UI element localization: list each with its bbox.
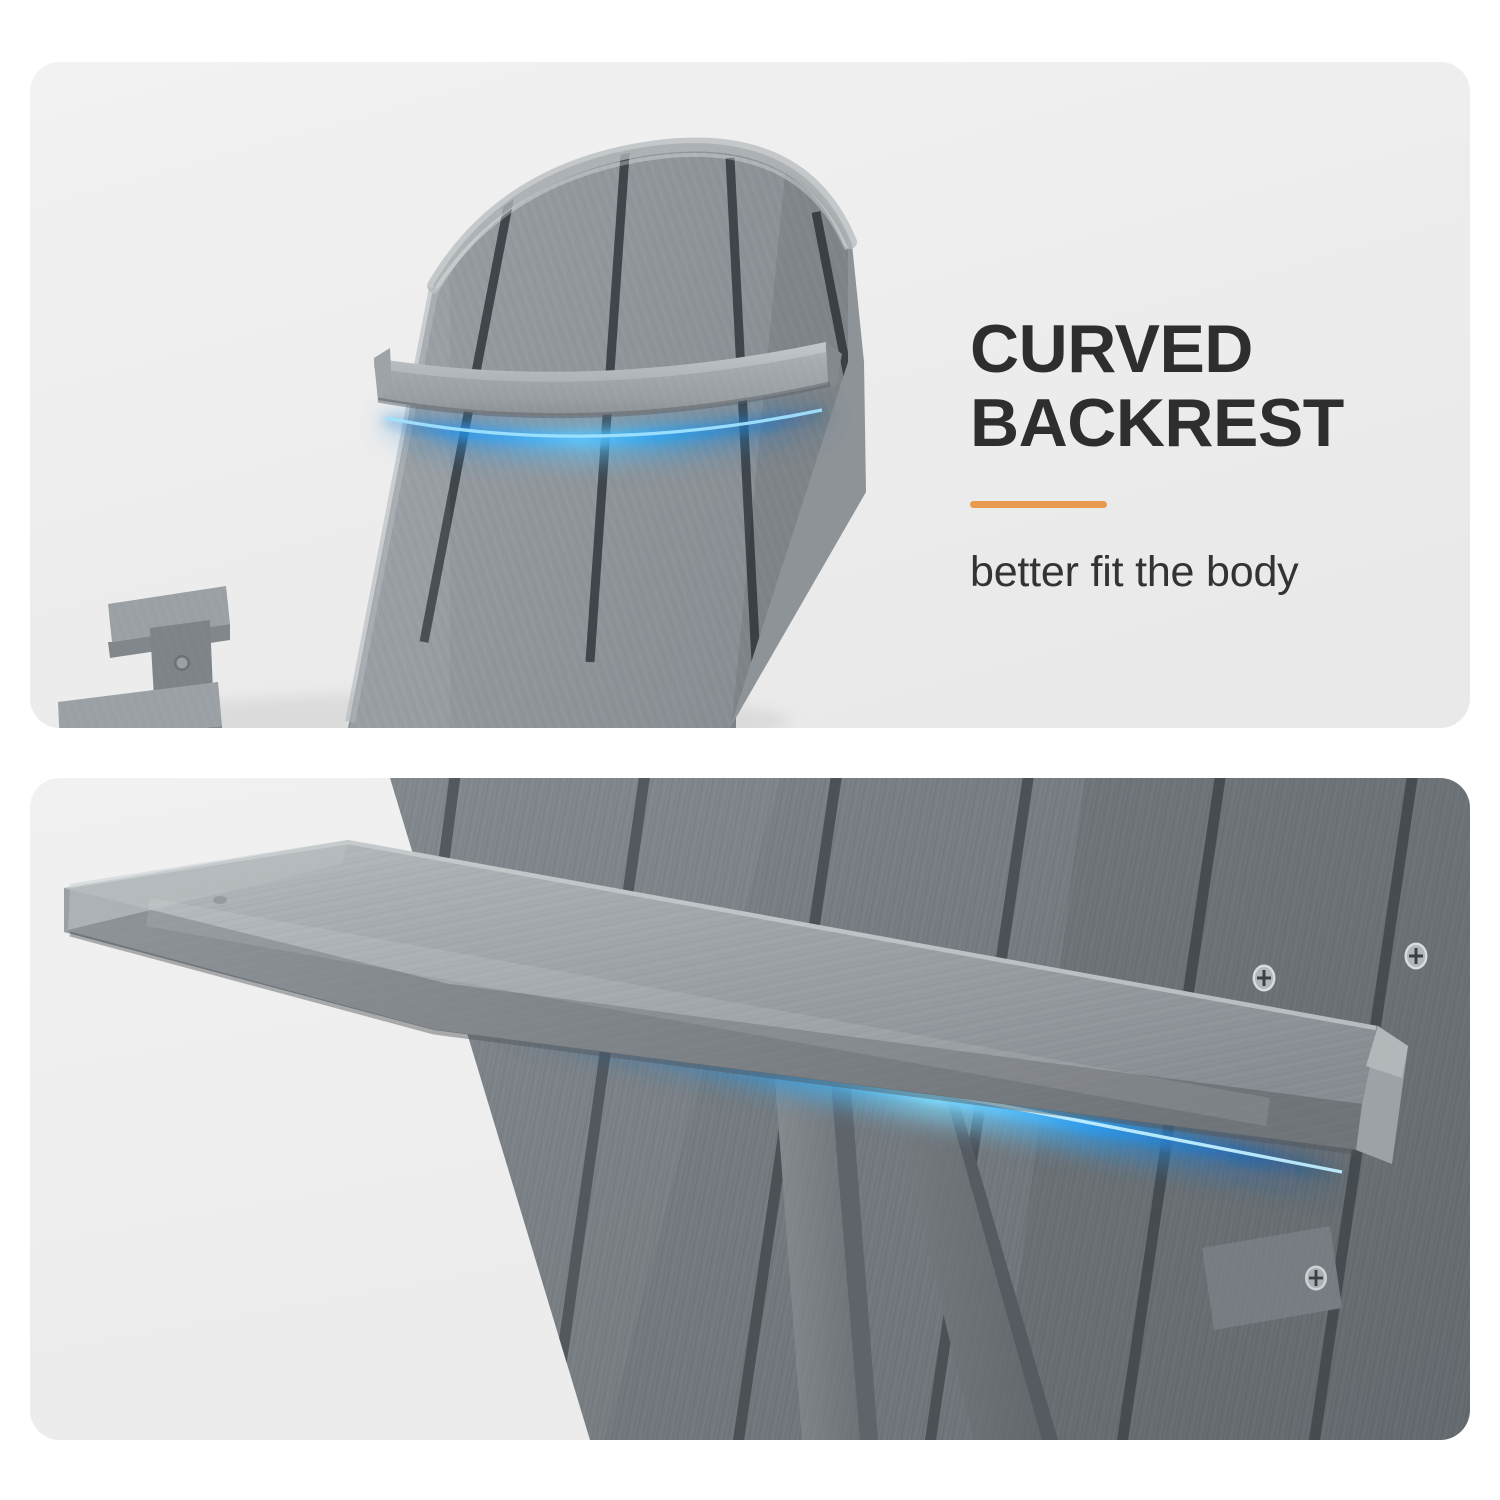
- feature-subtitle-curved-backrest: better fit the body: [970, 546, 1440, 598]
- product-photo-wide-armrests: [30, 778, 1470, 1440]
- wide-armrests-illustration: [30, 778, 1470, 1440]
- feature-title-curved-backrest: CURVED BACKREST: [970, 312, 1440, 460]
- feature-panel-curved-backrest: CURVED BACKREST better fit the body: [30, 62, 1470, 728]
- product-feature-graphic: CURVED BACKREST better fit the body: [0, 0, 1500, 1500]
- feature-panel-wide-armrests: WIDE ARMRESTS for better arm relaxation: [30, 778, 1470, 1440]
- text-block-curved-backrest: CURVED BACKREST better fit the body: [970, 312, 1440, 598]
- accent-rule-curved-backrest: [970, 501, 1107, 508]
